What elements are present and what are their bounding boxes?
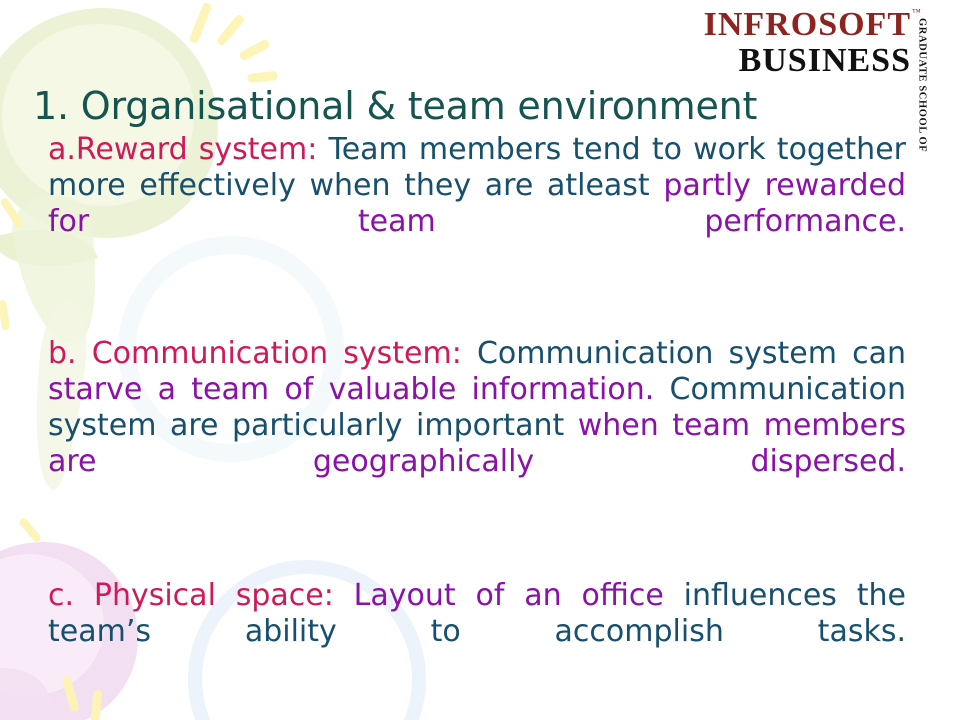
infrosoft-business-school-logo: INFROSOFT BUSINESS ™ GRADUATE SCHOOL OF <box>704 8 938 80</box>
yellow-ray-decoration <box>238 39 270 62</box>
yellow-ray-decoration <box>90 690 102 720</box>
slide-canvas: INFROSOFT BUSINESS ™ GRADUATE SCHOOL OF … <box>0 0 960 720</box>
trademark-symbol: ™ <box>912 8 921 17</box>
slide-body: a.Reward system: Team members tend to wo… <box>48 132 906 686</box>
logo-side-text-group: ™ GRADUATE SCHOOL OF <box>912 8 938 80</box>
yellow-ray-decoration <box>0 300 10 331</box>
yellow-ray-decoration <box>18 517 42 544</box>
logo-vertical-label: GRADUATE SCHOOL OF <box>916 18 927 152</box>
yellow-ray-decoration <box>0 197 25 230</box>
text-run: starve a team of valuable information. <box>48 372 670 407</box>
logo-wordmark: INFROSOFT BUSINESS <box>704 8 911 78</box>
text-run: Layout of an office <box>334 578 664 613</box>
pink-blob-small-decoration <box>0 668 50 720</box>
text-run: Communication system can <box>462 336 906 371</box>
bullet-paragraph-a: a.Reward system: Team members tend to wo… <box>48 132 906 276</box>
text-run: b. Communication system: <box>48 336 462 371</box>
slide-title: 1. Organisational & team environment <box>33 84 913 128</box>
yellow-ray-decoration <box>215 13 245 46</box>
logo-line-business: BUSINESS <box>704 44 911 78</box>
bullet-paragraph-b: b. Communication system: Communication s… <box>48 336 906 516</box>
logo-line-infrosoft: INFROSOFT <box>704 8 911 42</box>
yellow-ray-decoration <box>247 71 278 83</box>
text-run: a.Reward system: <box>48 132 317 167</box>
yellow-ray-decoration <box>188 2 212 44</box>
text-run: c. Physical space: <box>48 578 334 613</box>
bullet-paragraph-c: c. Physical space: Layout of an office i… <box>48 578 906 686</box>
